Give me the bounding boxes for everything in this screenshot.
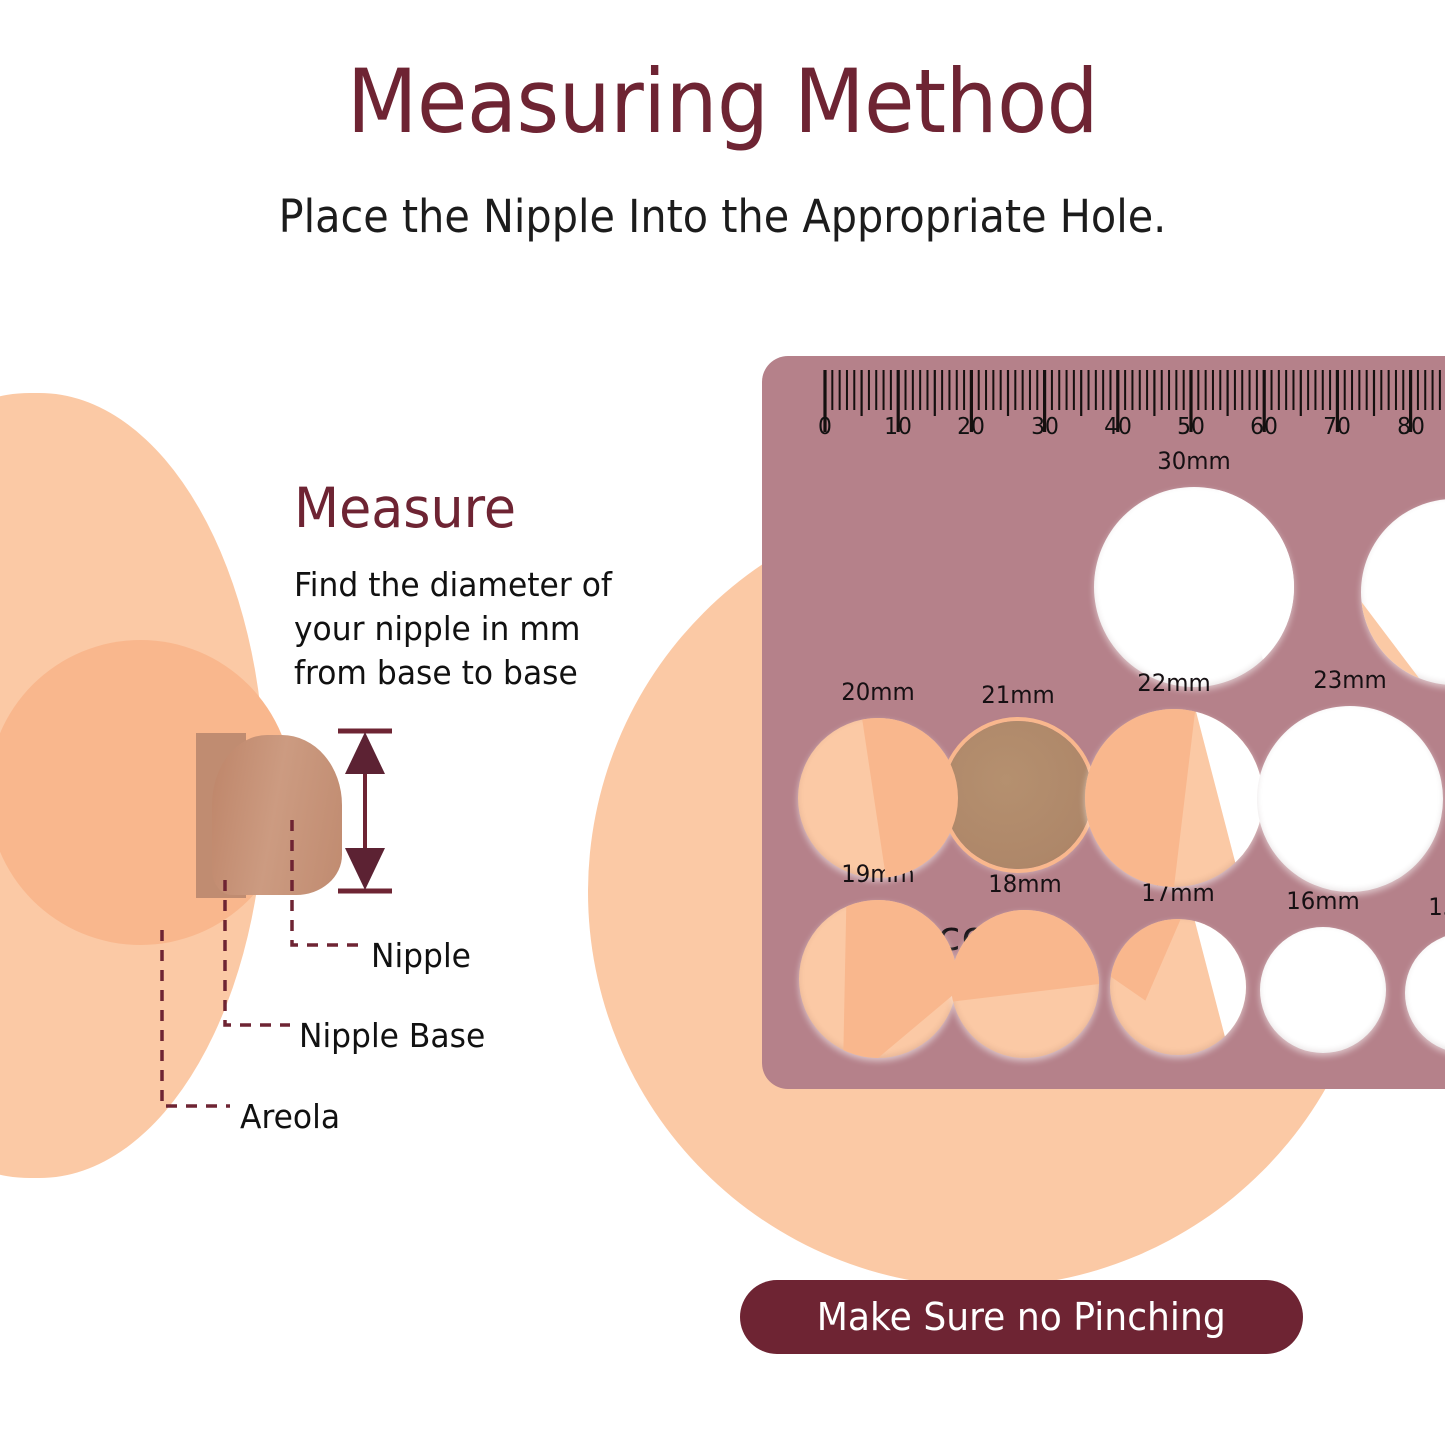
ruler-tick-marks [762, 356, 1445, 466]
ruler-hole-21mm[interactable] [944, 721, 1092, 869]
ruler-scale-label-40: 40 [1104, 414, 1132, 440]
ruler-hole-label-16mm: 16mm [1286, 887, 1359, 915]
page-subtitle: Place the Nipple Into the Appropriate Ho… [58, 192, 1387, 242]
ruler-scale-label-80: 80 [1397, 414, 1425, 440]
callout-label-nipple-base: Nipple Base [299, 1016, 485, 1055]
ruler-hole-16mm[interactable] [1260, 927, 1386, 1053]
measure-heading: Measure [294, 481, 516, 536]
callout-label-areola: Areola [240, 1097, 340, 1136]
page-title: Measuring Method [51, 58, 1395, 146]
ruler-scale-label-60: 60 [1250, 414, 1278, 440]
ruler-hole-15mm[interactable] [1405, 933, 1445, 1053]
ruler-scale-label-20: 20 [957, 414, 985, 440]
ruler-hole-label-15mm: 15mm [1428, 893, 1445, 921]
make-sure-no-pinching-badge[interactable]: Make Sure no Pinching [740, 1280, 1303, 1354]
ruler-scale-label-30: 30 [1031, 414, 1059, 440]
ruler-scale-label-50: 50 [1177, 414, 1205, 440]
ruler-scale-label-70: 70 [1323, 414, 1351, 440]
ruler-scale-label-10: 10 [884, 414, 912, 440]
ruler-hole-label-23mm: 23mm [1313, 666, 1386, 694]
badge-label: Make Sure no Pinching [817, 1295, 1226, 1339]
nipple-ruler: 01020304050607080 momcozy 30mm20mm21mm22… [762, 356, 1445, 1089]
ruler-scale-label-0: 0 [818, 414, 832, 440]
ruler-hole-label-18mm: 18mm [988, 870, 1061, 898]
callout-label-nipple: Nipple [371, 936, 471, 975]
poster-canvas: Measuring Method Place the Nipple Into t… [0, 0, 1445, 1445]
ruler-hole-23mm[interactable] [1257, 706, 1443, 892]
measure-description: Find the diameter of your nipple in mm f… [294, 563, 636, 695]
ruler-hole-label-20mm: 20mm [841, 678, 914, 706]
ruler-hole-label-22mm: 22mm [1137, 669, 1210, 697]
ruler-hole-label-21mm: 21mm [981, 681, 1054, 709]
ruler-hole-label-30mm: 30mm [1157, 447, 1230, 475]
